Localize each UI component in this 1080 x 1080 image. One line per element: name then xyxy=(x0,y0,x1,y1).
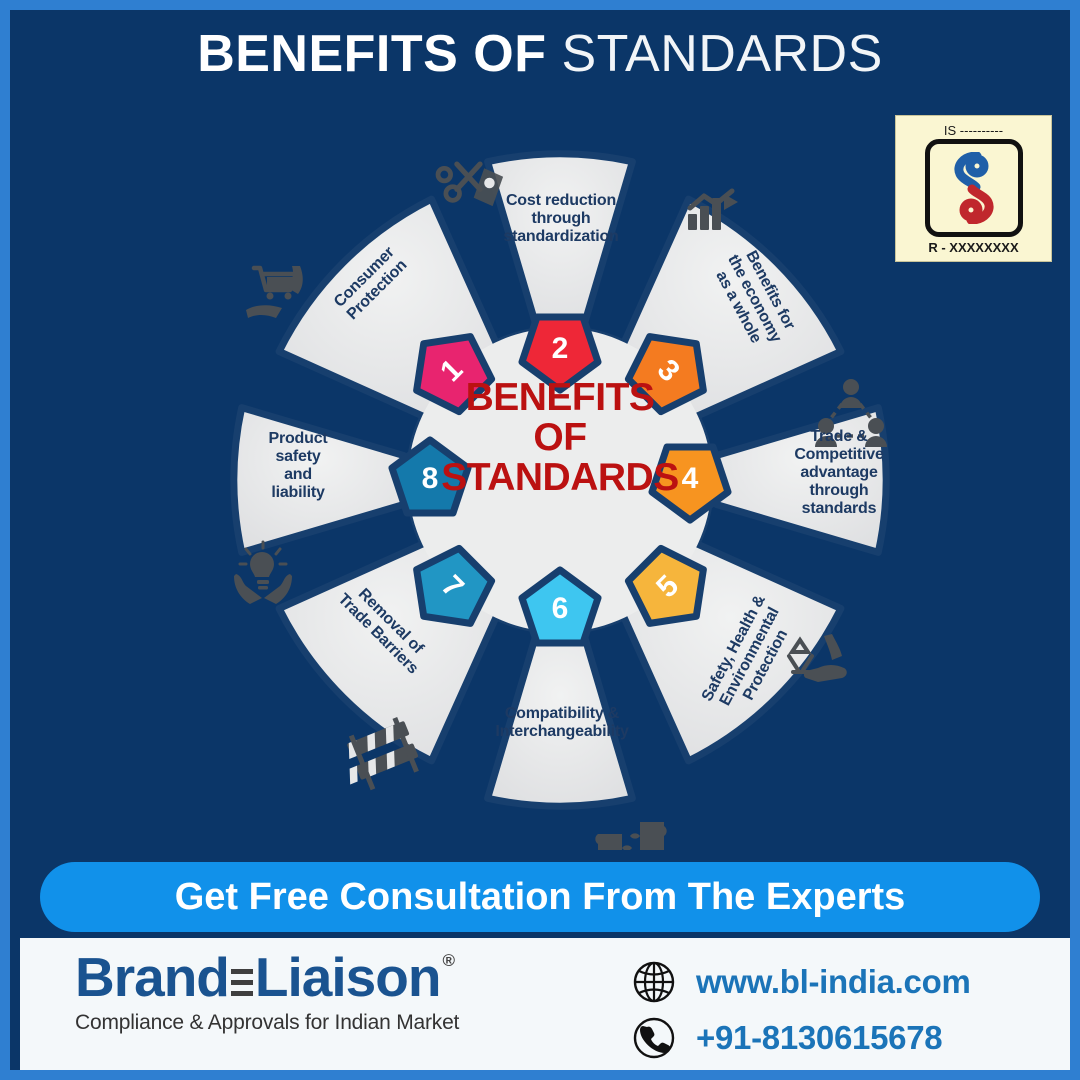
brand-wordmark: Brand Liaison ® xyxy=(75,950,575,1005)
brand-tagline: Compliance & Approvals for Indian Market xyxy=(75,1011,575,1035)
petal-label-8: Product safety and liability xyxy=(218,430,378,502)
page-title: BENEFITS OF STANDARDS xyxy=(10,24,1070,84)
brand-name-part2: Liaison xyxy=(255,950,441,1005)
poster-frame: BENEFITS OF STANDARDS IS ---------- R - … xyxy=(10,10,1070,1070)
website-text: www.bl-india.com xyxy=(696,963,971,1001)
phone-circle-icon xyxy=(632,1016,676,1060)
brand-logo: Brand Liaison ® Compliance & Approvals f… xyxy=(75,950,575,1035)
website-row[interactable]: www.bl-india.com xyxy=(632,960,971,1004)
title-bold: BENEFITS OF xyxy=(197,25,546,83)
contact-block: www.bl-india.com +91-8130615678 xyxy=(632,960,971,1070)
petal-label-6: Compatibility & Interchangeability xyxy=(462,705,662,741)
brand-equals-icon xyxy=(231,950,253,999)
isi-mark-bottom-text: R - XXXXXXXX xyxy=(928,241,1018,254)
phone-text: +91-8130615678 xyxy=(696,1019,942,1057)
brand-name-part1: Brand xyxy=(75,950,229,1005)
benefits-wheel: Consumer Protection Cost reduction throu… xyxy=(190,110,930,850)
isi-mark-box xyxy=(925,139,1023,237)
phone-row[interactable]: +91-8130615678 xyxy=(632,1016,971,1060)
cta-button[interactable]: Get Free Consultation From The Experts xyxy=(40,862,1040,932)
title-regular: STANDARDS xyxy=(561,25,882,83)
shopping-cart-hands-icon xyxy=(246,266,303,318)
registered-trademark-icon: ® xyxy=(442,952,454,969)
cta-label: Get Free Consultation From The Experts xyxy=(175,876,906,919)
petal-label-4: Trade & Competitive advantage through st… xyxy=(756,428,922,518)
isi-logo-icon xyxy=(943,152,1005,224)
footer-bar: Brand Liaison ® Compliance & Approvals f… xyxy=(20,938,1070,1070)
wheel-center-title: BENEFITS OF STANDARDS xyxy=(420,378,700,497)
globe-icon xyxy=(632,960,676,1004)
puzzle-pieces-icon xyxy=(595,822,666,850)
isi-mark-top-text: IS ---------- xyxy=(944,124,1003,137)
petal-label-2: Cost reduction through standardization xyxy=(475,192,647,246)
